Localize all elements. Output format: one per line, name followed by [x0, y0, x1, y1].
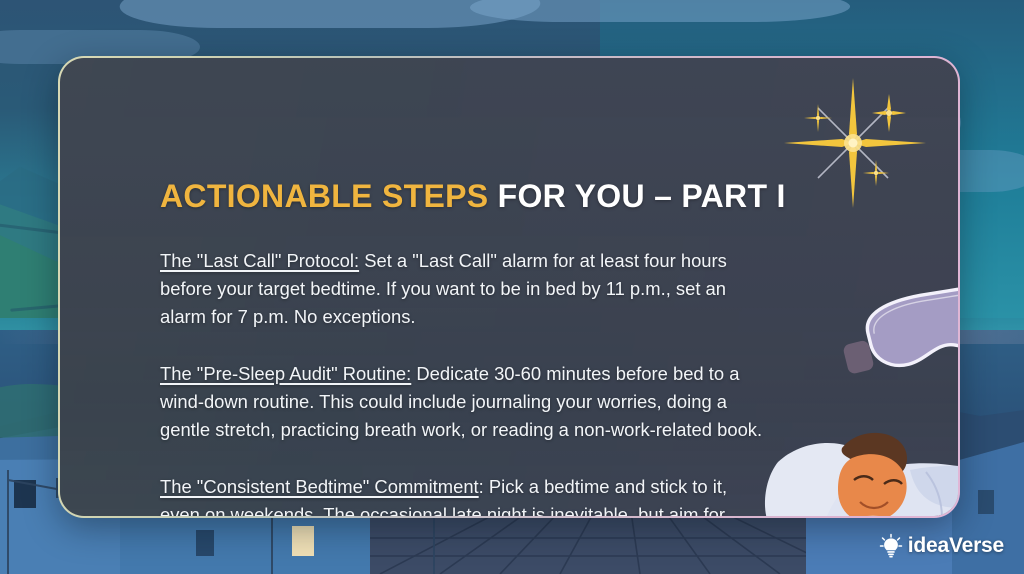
sleep-mask-illustration: [828, 270, 958, 410]
paragraph-lead: The "Pre-Sleep Audit" Routine:: [160, 363, 411, 384]
paragraph-item: The "Last Call" Protocol: Set a "Last Ca…: [160, 247, 772, 331]
paragraph-item: The "Pre-Sleep Audit" Routine: Dedicate …: [160, 360, 772, 444]
paragraph-lead: The "Last Call" Protocol:: [160, 250, 359, 271]
slide-canvas: ACTIONABLE STEPS FOR YOU – PART I The "L…: [0, 0, 1024, 574]
page-title-highlight: ACTIONABLE STEPS: [160, 178, 488, 214]
paragraph-item: The "Consistent Bedtime" Commitment: Pic…: [160, 473, 772, 516]
page-title: ACTIONABLE STEPS FOR YOU – PART I: [160, 179, 786, 214]
page-title-rest: FOR YOU – PART I: [498, 178, 786, 214]
brand-logo[interactable]: ideaVerse: [877, 532, 1004, 560]
content-card: ACTIONABLE STEPS FOR YOU – PART I The "L…: [58, 56, 960, 518]
sparkle-star-icon: [776, 72, 944, 212]
sleeping-person-illustration: [760, 426, 958, 516]
lightbulb-icon: [877, 532, 905, 560]
body-content: The "Last Call" Protocol: Set a "Last Ca…: [160, 247, 772, 516]
content-card-inner: ACTIONABLE STEPS FOR YOU – PART I The "L…: [60, 58, 958, 516]
cloud-shape: [467, 0, 853, 22]
paragraph-lead: The "Consistent Bedtime" Commitment: [160, 476, 479, 497]
brand-name: ideaVerse: [908, 534, 1004, 558]
